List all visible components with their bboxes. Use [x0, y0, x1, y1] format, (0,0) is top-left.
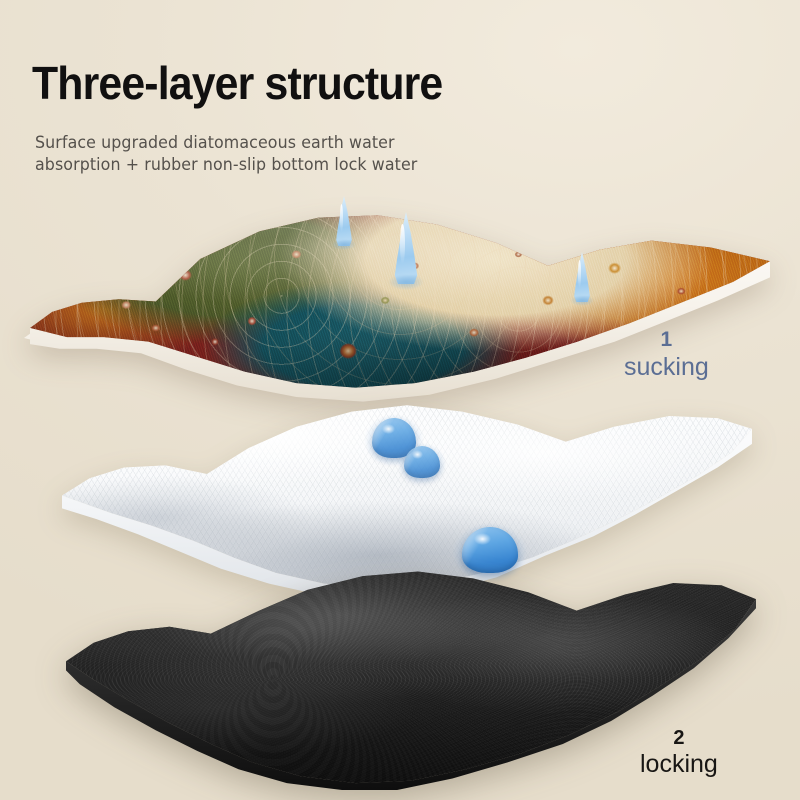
water-droplet-icon	[568, 252, 596, 302]
droplet-base-glow	[388, 274, 423, 290]
water-droplet-icon	[386, 212, 426, 284]
water-droplet-icon	[330, 196, 358, 246]
droplet-highlight	[382, 424, 395, 434]
callout-sucking-label: sucking	[624, 353, 709, 381]
page-title: Three-layer structure	[32, 60, 442, 106]
droplet-base-glow	[332, 239, 357, 250]
callout-locking-number: 2	[640, 727, 718, 749]
callout-locking: 2 locking	[640, 727, 718, 778]
water-droplet-icon	[404, 446, 440, 478]
callout-sucking: 1 sucking	[624, 328, 709, 381]
droplet-base-glow	[570, 295, 595, 306]
callout-sucking-number: 1	[624, 328, 709, 352]
droplet-highlight	[412, 450, 423, 458]
callout-locking-label: locking	[640, 750, 718, 778]
page-subtitle: Surface upgraded diatomaceous earth wate…	[35, 132, 448, 176]
product-infographic: Three-layer structure Surface upgraded d…	[0, 0, 800, 800]
